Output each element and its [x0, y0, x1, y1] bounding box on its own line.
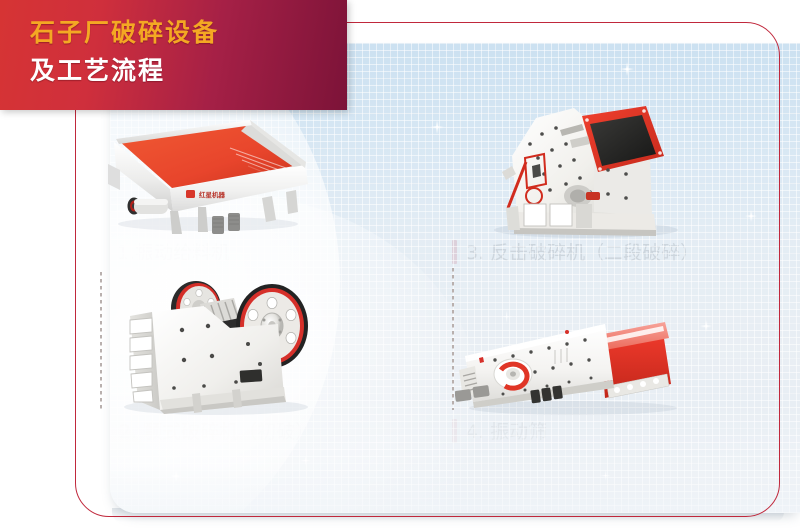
machine-image-jaw-crusher: [108, 268, 324, 418]
title-line-2: 及工艺流程: [30, 58, 165, 83]
svg-text:红星机器: 红星机器: [199, 190, 226, 199]
machine-image-vibrating-screen: [455, 298, 685, 418]
dotted-divider-left: [100, 272, 102, 410]
poster-canvas: 红星机器: [0, 0, 800, 530]
title-line-1: 石子厂破碎设备: [30, 20, 219, 45]
title-banner: 石子厂破碎设备 及工艺流程: [0, 0, 347, 110]
machine-image-impact-crusher: [478, 100, 688, 240]
machine-image-vibrating-feeder: 红星机器: [100, 112, 315, 237]
dotted-divider-right: [452, 268, 454, 410]
